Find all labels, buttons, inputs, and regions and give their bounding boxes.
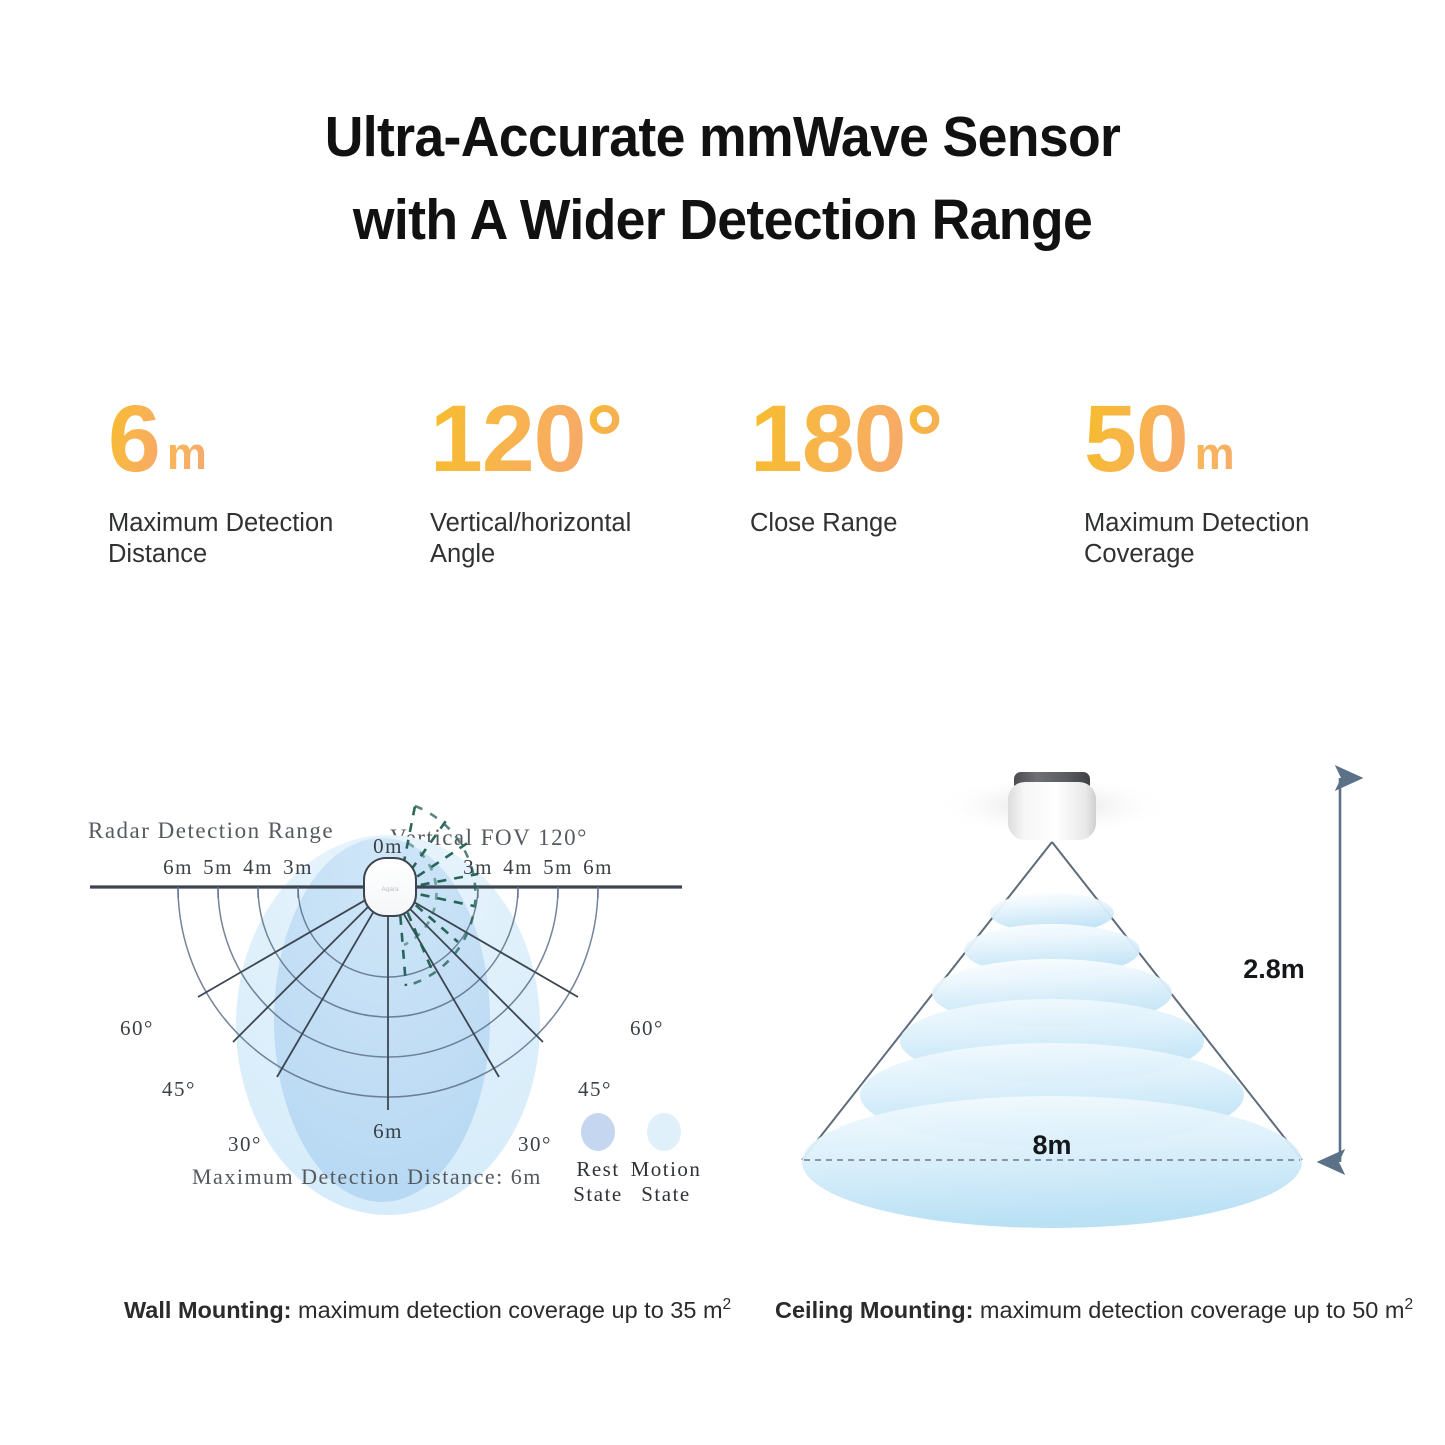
tick-label-right-5m: 5m [543, 855, 573, 879]
sensor-body [1008, 782, 1096, 840]
tick-label-left-6m: 6m [163, 855, 193, 879]
cone-width-label: 8m [1032, 1130, 1071, 1160]
cone-height-label: 2.8m [1243, 954, 1305, 984]
stat-degree-symbol: ° [906, 392, 944, 487]
angle-label-right-45: 45° [578, 1077, 612, 1101]
radar-legend: Rest State Motion State [573, 1113, 701, 1206]
angle-label-left-45: 45° [162, 1077, 196, 1101]
tick-label-left-5m: 5m [203, 855, 233, 879]
infographic-page: Ultra-Accurate mmWave Sensor with A Wide… [0, 0, 1445, 1445]
title-line-2: with A Wider Detection Range [43, 179, 1401, 262]
detection-disc-6 [802, 1096, 1302, 1228]
wall-caption-text: maximum detection coverage up to 35 m [292, 1297, 723, 1323]
radar-footer-label: Maximum Detection Distance: 6m [192, 1164, 542, 1189]
stat-label: Maximum Detection Distance [108, 508, 368, 570]
detection-discs [802, 893, 1302, 1228]
stat-number: 50 [1084, 392, 1188, 487]
legend-swatch-rest-state [581, 1113, 615, 1151]
ceiling-caption-text: maximum detection coverage up to 50 m [973, 1297, 1404, 1323]
stat-value: 6 m [108, 392, 430, 488]
radar-heading: Radar Detection Range [88, 818, 334, 843]
wall-mounting-caption: Wall Mounting: maximum detection coverag… [124, 1296, 731, 1324]
stat-value: 50 m2 [1084, 392, 1358, 488]
stat-label: Close Range [750, 508, 1010, 539]
angle-label-right-60: 60° [630, 1016, 664, 1040]
stat-unit: m2 [1195, 430, 1251, 476]
stat-label: Maximum Detection Coverage [1084, 508, 1344, 570]
page-title: Ultra-Accurate mmWave Sensor with A Wide… [0, 96, 1445, 262]
center-0m-label: 0m [373, 834, 403, 858]
stat-max-detection-coverage: 50 m2 Maximum Detection Coverage [1084, 392, 1358, 592]
ceiling-mounting-diagram: 8m 2.8m [760, 750, 1400, 1280]
stat-vertical-horizontal-angle: 120 ° Vertical/horizontal Angle [430, 392, 750, 592]
tick-label-right-6m: 6m [583, 855, 613, 879]
tick-label-right-4m: 4m [503, 855, 533, 879]
ceiling-sensor-device [1008, 772, 1096, 840]
bottom-6m-label: 6m [373, 1119, 403, 1143]
stat-number: 120 [430, 392, 586, 487]
tick-label-right-3m: 3m [463, 855, 493, 879]
angle-label-left-30: 30° [228, 1132, 262, 1156]
stats-row: 6 m Maximum Detection Distance 120 ° Ver… [108, 392, 1358, 592]
ceiling-caption-bold: Ceiling Mounting: [775, 1297, 973, 1323]
legend-label-rest-line2: State [573, 1182, 623, 1206]
angle-label-left-60: 60° [120, 1016, 154, 1040]
stat-number: 6 [108, 392, 160, 487]
stat-degree-symbol: ° [586, 392, 624, 487]
stat-number: 180 [750, 392, 906, 487]
stat-close-range: 180 ° Close Range [750, 392, 1084, 592]
legend-label-motion-line2: State [641, 1182, 691, 1206]
stat-value: 120 ° [430, 392, 750, 488]
stat-unit-exponent: 2 [1235, 414, 1251, 445]
ceiling-mounting-caption: Ceiling Mounting: maximum detection cove… [775, 1296, 1413, 1324]
tick-label-left-3m: 3m [283, 855, 313, 879]
legend-label-rest-line1: Rest [576, 1157, 619, 1181]
wall-sensor-device: Aqara [364, 858, 416, 916]
wall-caption-exponent: 2 [723, 1296, 732, 1313]
stat-unit: m [167, 431, 207, 476]
angle-label-right-30: 30° [518, 1132, 552, 1156]
stat-label: Vertical/horizontal Angle [430, 508, 690, 570]
ceiling-caption-exponent: 2 [1404, 1296, 1413, 1313]
legend-label-motion-line1: Motion [631, 1157, 702, 1181]
wall-caption-bold: Wall Mounting: [124, 1297, 292, 1323]
title-line-1: Ultra-Accurate mmWave Sensor [43, 96, 1401, 179]
stat-value: 180 ° [750, 392, 1084, 488]
device-brand-label: Aqara [381, 886, 399, 893]
wall-mounting-diagram: Radar Detection Range Vertical FOV 120° [70, 770, 730, 1270]
legend-swatch-motion-state [647, 1113, 681, 1151]
stat-max-detection-distance: 6 m Maximum Detection Distance [108, 392, 430, 592]
tick-label-left-4m: 4m [243, 855, 273, 879]
